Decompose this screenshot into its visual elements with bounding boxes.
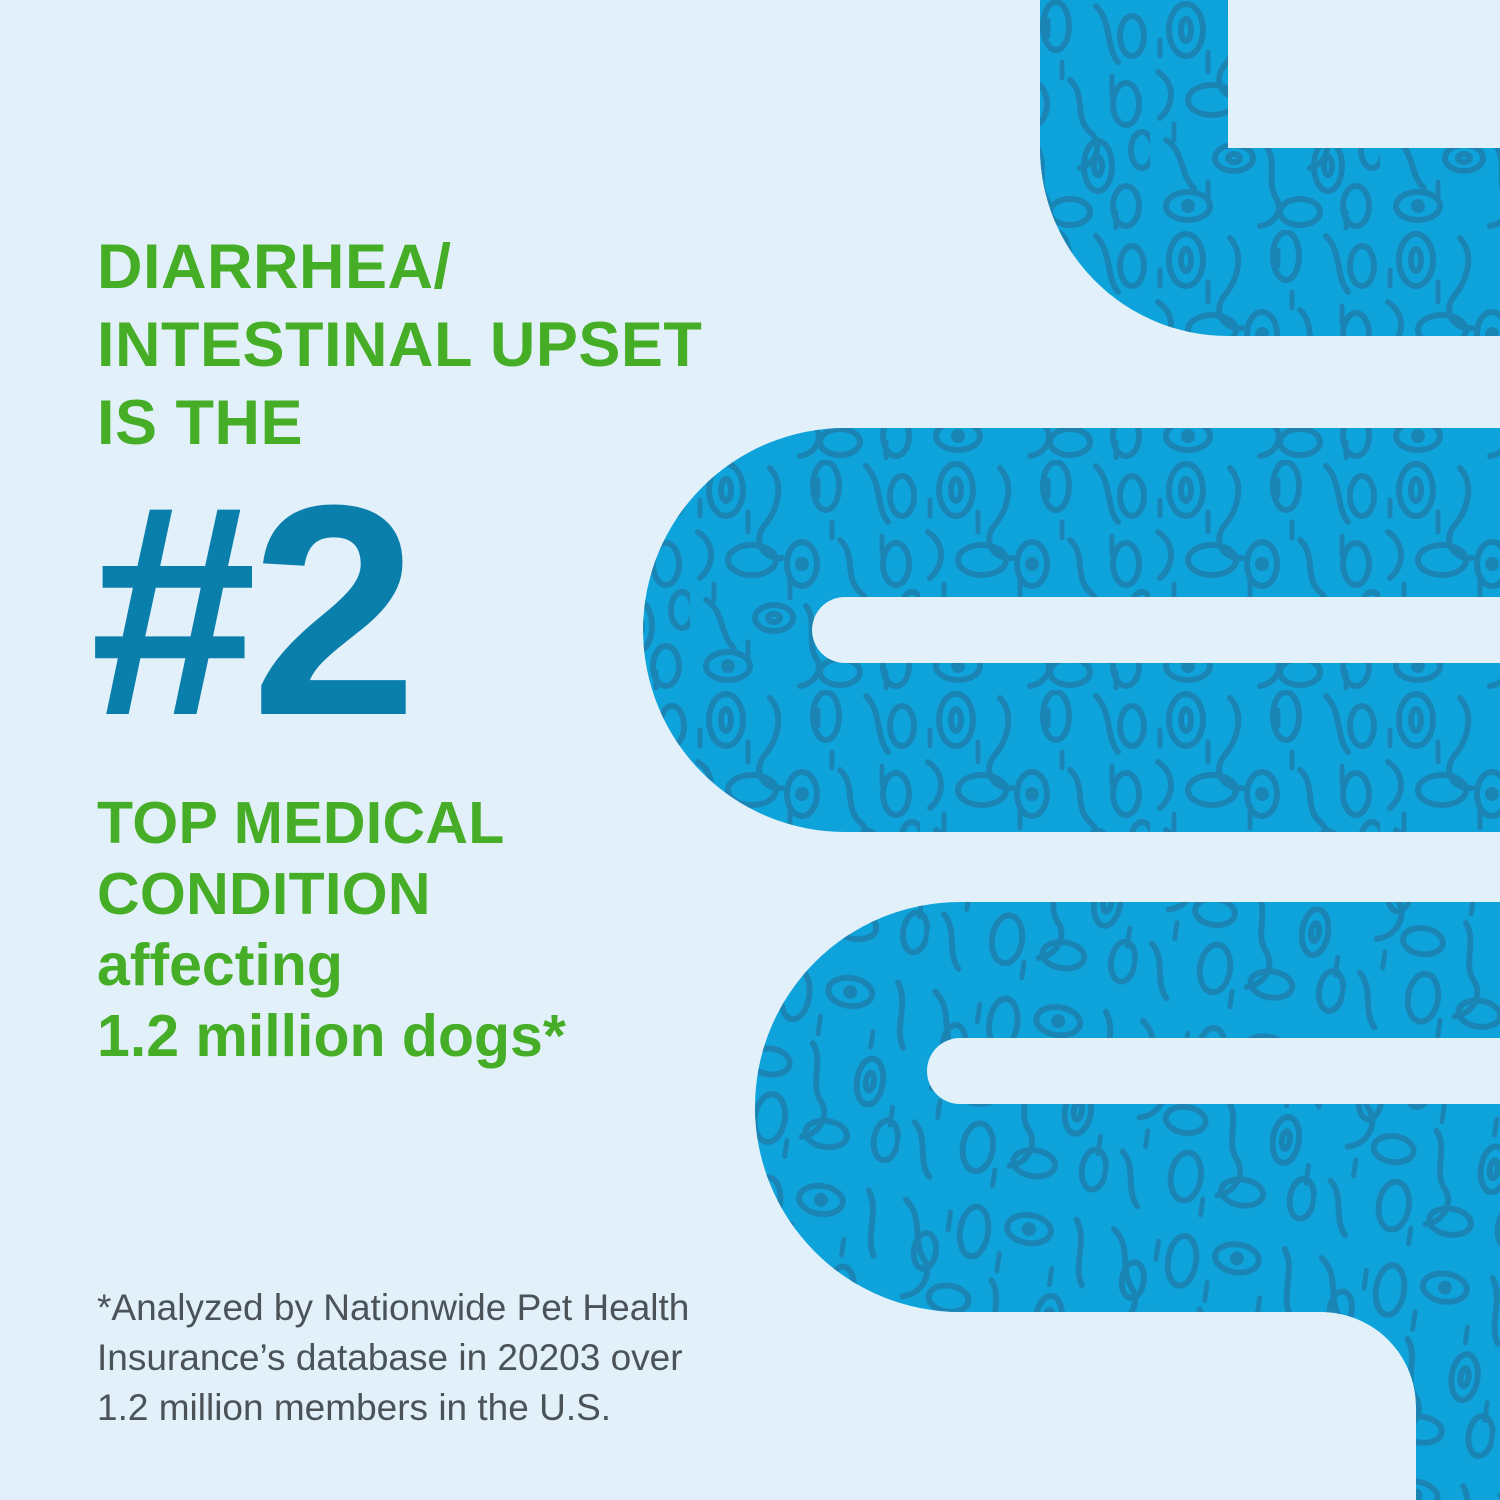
subheadline-line-3: affecting xyxy=(97,930,797,1001)
headline-line-1: DIARRHEA/ xyxy=(97,228,857,306)
subheadline: TOP MEDICAL CONDITION affecting 1.2 mill… xyxy=(97,788,797,1072)
subheadline-line-1: TOP MEDICAL xyxy=(97,788,797,859)
headline-line-2: INTESTINAL UPSET xyxy=(97,306,857,384)
footnote-line-2: Insurance’s database in 20203 over xyxy=(97,1333,857,1383)
footnote-line-1: *Analyzed by Nationwide Pet Health xyxy=(97,1283,857,1333)
rank-callout: #2 xyxy=(90,460,412,760)
rank-number: #2 xyxy=(90,460,412,760)
copy-layer: DIARRHEA/ INTESTINAL UPSET IS THE #2 TOP… xyxy=(0,0,1500,1500)
footnote: *Analyzed by Nationwide Pet Health Insur… xyxy=(97,1283,857,1433)
headline: DIARRHEA/ INTESTINAL UPSET IS THE xyxy=(97,228,857,462)
subheadline-line-4: 1.2 million dogs* xyxy=(97,1001,797,1072)
subheadline-line-2: CONDITION xyxy=(97,859,797,930)
footnote-line-3: 1.2 million members in the U.S. xyxy=(97,1383,857,1433)
infographic-poster: DIARRHEA/ INTESTINAL UPSET IS THE #2 TOP… xyxy=(0,0,1500,1500)
